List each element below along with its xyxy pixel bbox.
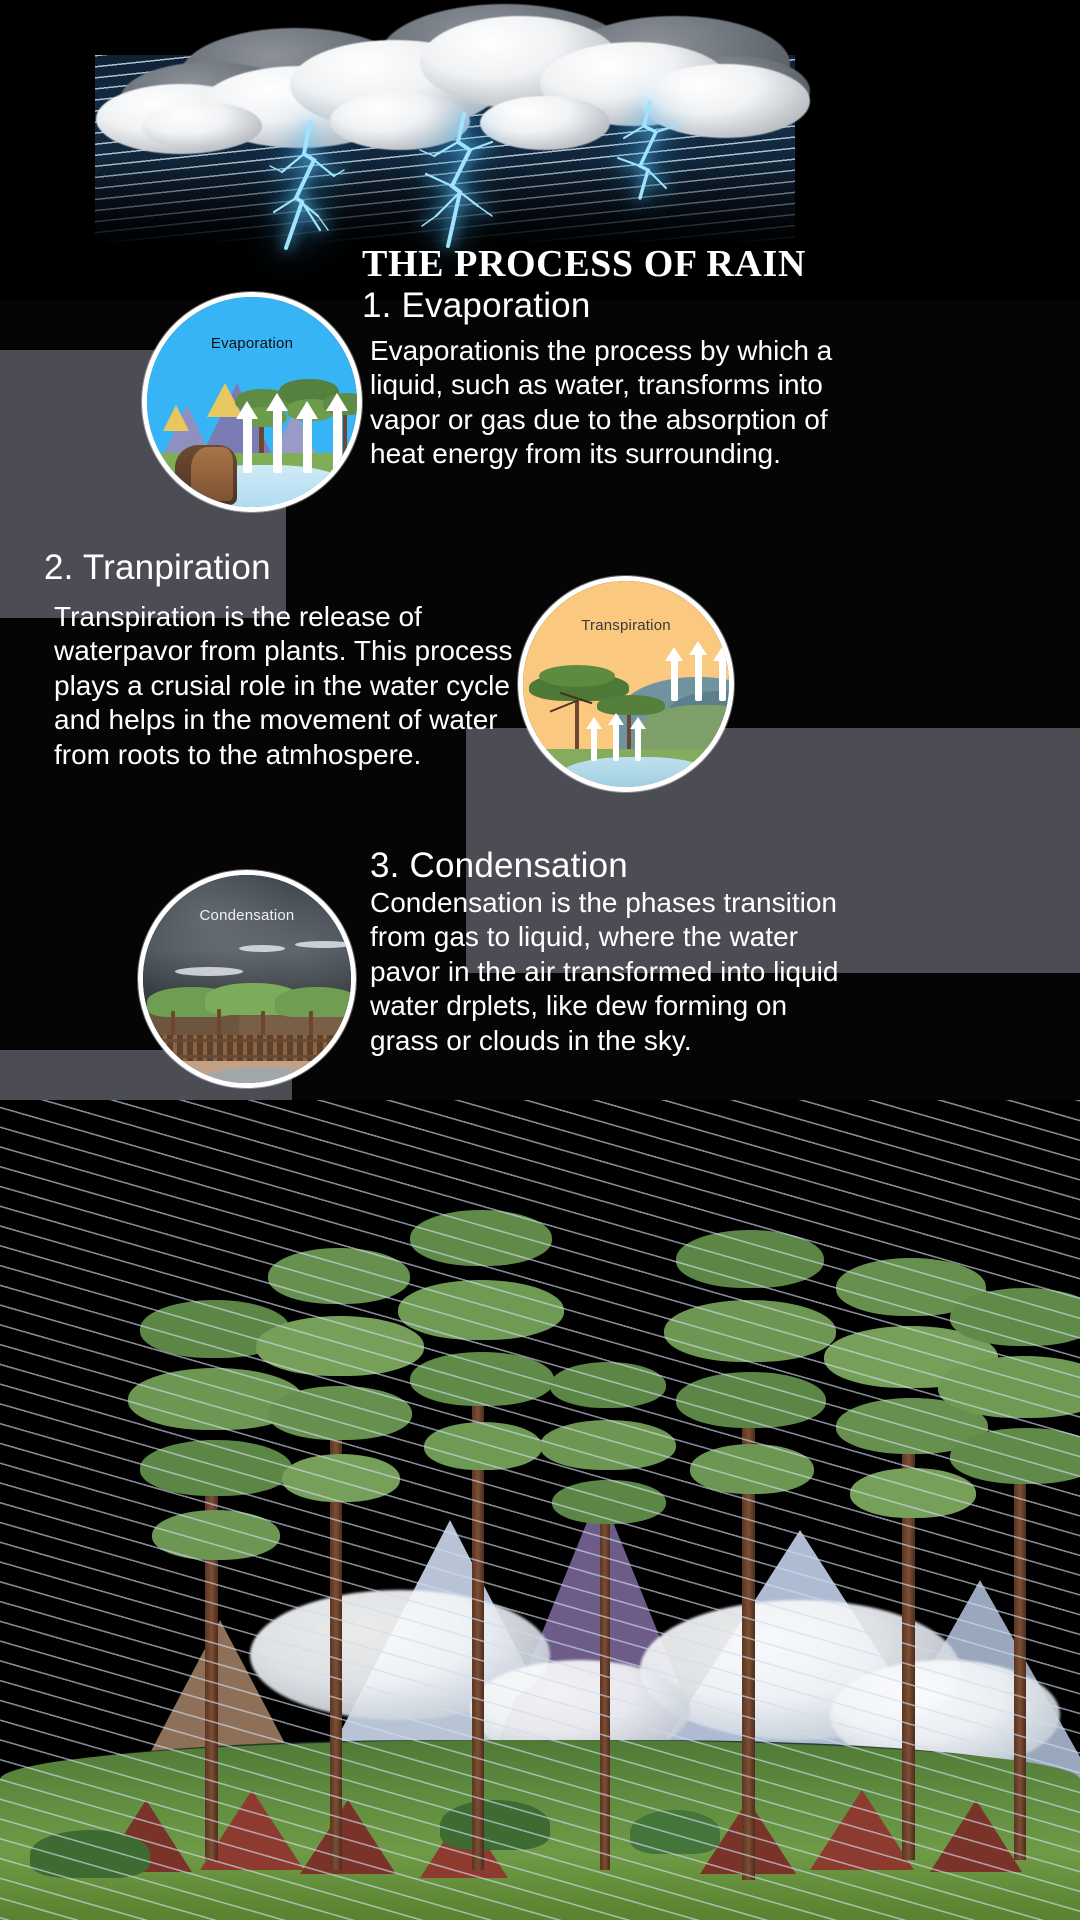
tree-canopy <box>140 1440 292 1496</box>
tree-canopy <box>539 665 615 687</box>
cloud-wisp <box>175 967 243 976</box>
tree-canopy <box>676 1372 826 1428</box>
tree-canopy <box>282 1454 400 1502</box>
forest-scene <box>0 1100 1080 1920</box>
vapor-arrow <box>608 713 624 725</box>
vapor-arrow <box>243 417 252 473</box>
cloud-wisp <box>295 941 353 948</box>
step-2-body: Transpiration is the release of waterpav… <box>54 600 524 772</box>
tree-canopy <box>938 1356 1080 1418</box>
evaporation-illustration: Evaporation <box>142 292 362 512</box>
mountain-snowcap <box>163 405 189 431</box>
vapor-arrow <box>296 401 318 419</box>
circle-caption: Condensation <box>143 907 351 924</box>
tree-canopy <box>268 1386 412 1440</box>
tree-canopy <box>256 1316 424 1376</box>
tree-canopy <box>268 1248 410 1304</box>
tree-canopy <box>410 1352 554 1406</box>
vapor-arrow <box>273 409 282 473</box>
tree-canopy <box>950 1428 1080 1484</box>
step-2-heading: 2. Tranpiration <box>44 548 271 588</box>
vapor-arrow <box>326 393 348 411</box>
tree-canopy <box>950 1288 1080 1346</box>
lightning-bolt <box>392 112 522 248</box>
vapor-arrow <box>689 641 707 655</box>
tree-canopy <box>597 695 665 715</box>
storm-cloud <box>142 102 262 150</box>
circle-caption: Transpiration <box>523 617 729 634</box>
cloud-wisp <box>239 945 285 952</box>
tree-canopy <box>850 1468 976 1518</box>
tree-row <box>275 987 356 1017</box>
fence-rail <box>143 1055 356 1058</box>
vapor-arrow <box>719 659 726 701</box>
vapor-arrow <box>333 409 342 473</box>
circle-caption: Evaporation <box>147 335 357 352</box>
vapor-arrow <box>630 717 646 729</box>
vapor-arrow <box>303 417 312 473</box>
vapor-arrow <box>613 723 619 761</box>
tree-trunk <box>1014 1430 1026 1860</box>
tent <box>300 1800 396 1874</box>
step-3-heading: 3. Condensation <box>370 846 628 886</box>
vapor-arrow <box>586 717 602 729</box>
vapor-arrow <box>695 653 702 701</box>
tent <box>930 1800 1022 1872</box>
vapor-arrow <box>236 401 258 419</box>
tree-trunk <box>600 1480 610 1870</box>
tree-canopy <box>676 1230 824 1288</box>
bush <box>30 1830 150 1878</box>
lightning-bolt <box>252 120 372 250</box>
tree-canopy <box>410 1210 552 1266</box>
tree-trunk <box>205 1440 218 1860</box>
vapor-arrow <box>266 393 288 411</box>
vapor-arrow <box>665 647 683 661</box>
vapor-arrow <box>671 659 678 701</box>
vapor-arrow <box>591 727 597 761</box>
tree-canopy <box>398 1280 564 1340</box>
fence-rail <box>143 1039 356 1042</box>
rock <box>191 447 233 501</box>
page-title: THE PROCESS OF RAIN <box>362 242 806 286</box>
tree-canopy <box>424 1422 542 1470</box>
tree-canopy <box>664 1300 836 1362</box>
tree-canopy <box>152 1510 280 1560</box>
step-1-body: Evaporationis the process by which a liq… <box>370 334 840 472</box>
tree-canopy <box>550 1362 666 1408</box>
condensation-illustration: Condensation <box>138 870 356 1088</box>
transpiration-illustration: Transpiration <box>518 576 734 792</box>
tent <box>810 1790 914 1870</box>
bush <box>440 1800 550 1850</box>
tree-canopy <box>552 1480 666 1524</box>
tree-canopy <box>690 1444 814 1494</box>
vapor-arrow <box>713 647 731 661</box>
vapor-arrow <box>635 727 641 761</box>
step-3-body: Condensation is the phases transition fr… <box>370 886 850 1058</box>
lake <box>557 757 717 792</box>
tree-canopy <box>540 1420 676 1470</box>
step-1-heading: 1. Evaporation <box>362 286 591 326</box>
bush <box>630 1810 720 1854</box>
lightning-bolt <box>600 100 710 200</box>
